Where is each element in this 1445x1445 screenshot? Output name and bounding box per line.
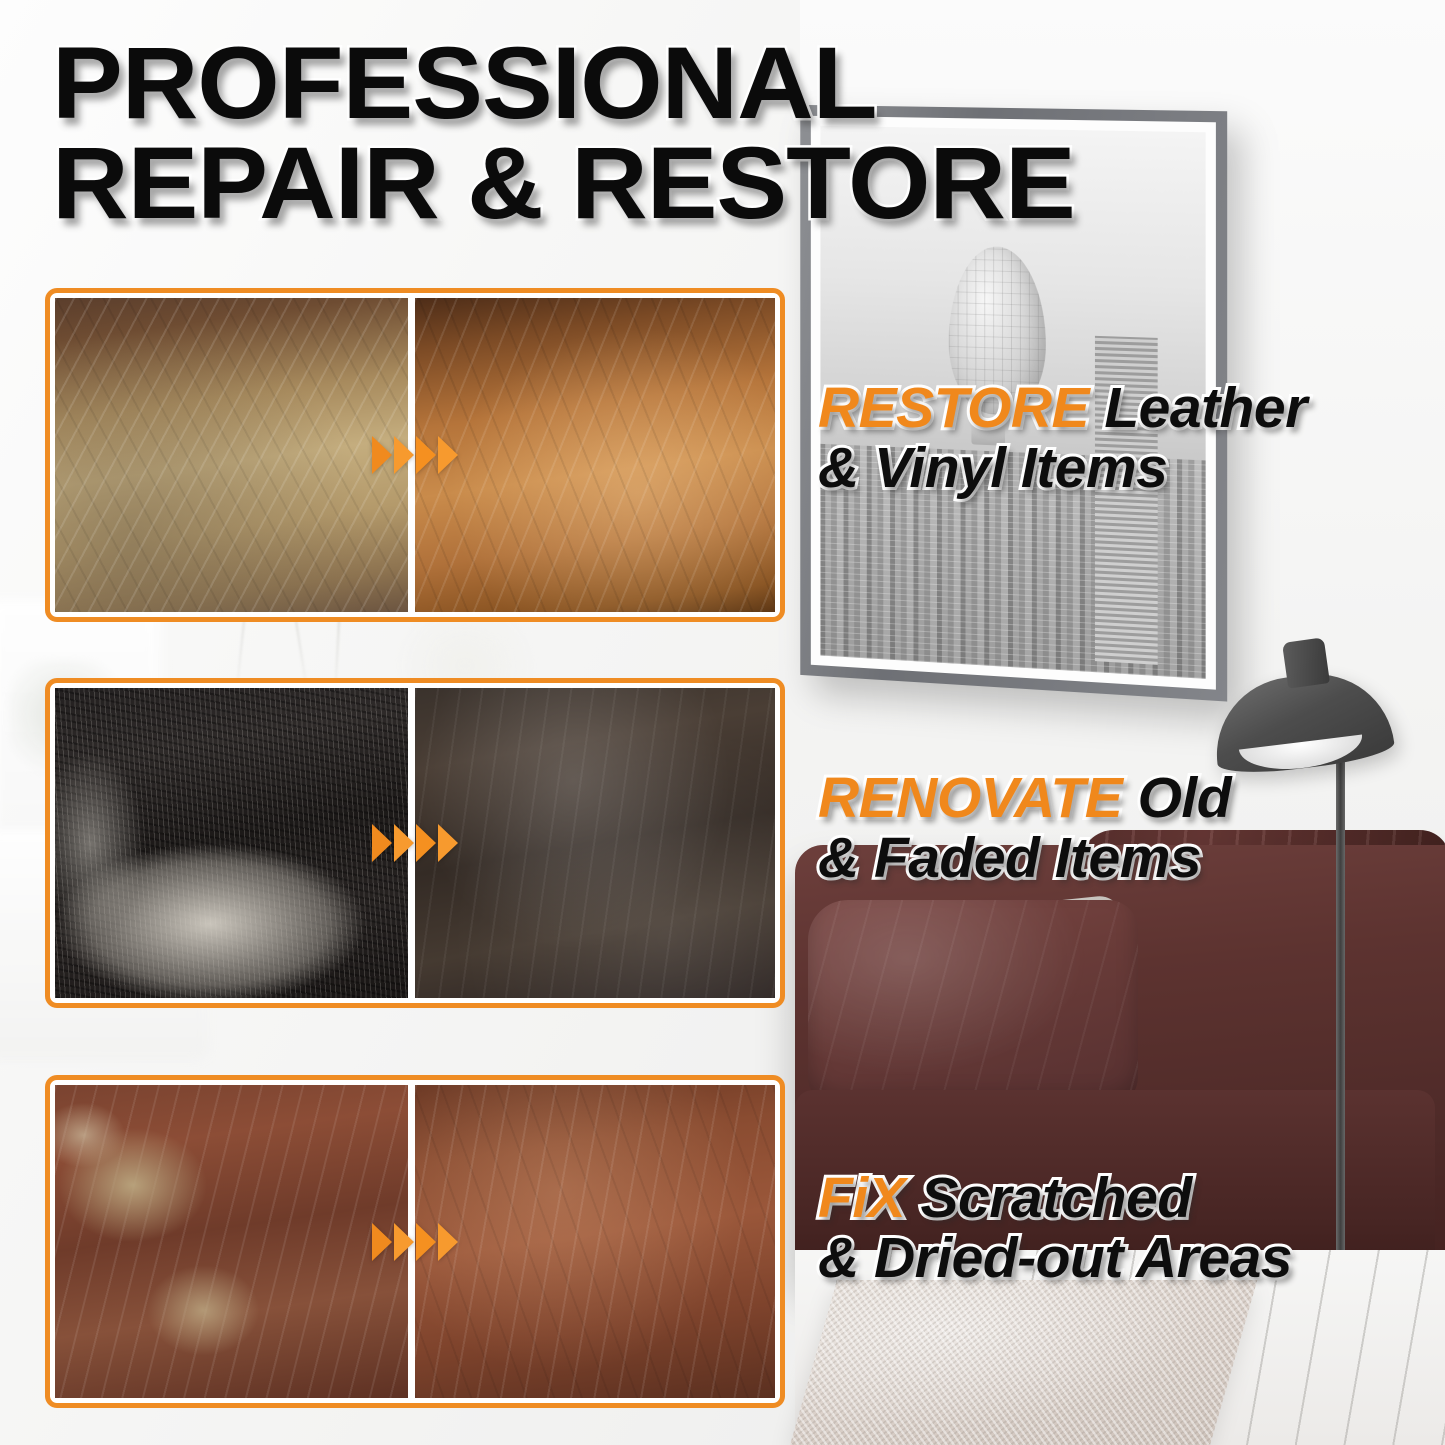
callout-rest: Old (1122, 766, 1231, 830)
before-after-panel-renovate (45, 678, 785, 1008)
before-photo-fix (55, 1085, 415, 1398)
callout-restore: RESTORE Leather & Vinyl Items (818, 378, 1438, 499)
before-after-panel-restore (45, 288, 785, 622)
before-photo-renovate (55, 688, 415, 998)
area-rug (790, 1280, 1257, 1445)
sofa-cushion (808, 900, 1138, 1110)
callout-rest: Scratched (905, 1166, 1191, 1230)
lamp-neck (1282, 637, 1330, 688)
callout-rest: Leather (1089, 376, 1307, 440)
photo-after-image (415, 688, 775, 998)
photo-after-image (415, 298, 775, 612)
advertisement-canvas: PROFESSIONAL REPAIR & RESTORE (0, 0, 1445, 1445)
callout-line-1: RESTORE Leather (818, 378, 1438, 438)
callout-renovate: RENOVATE Old & Faded Items (818, 768, 1438, 889)
after-photo-restore (415, 298, 775, 612)
after-photo-fix (415, 1085, 775, 1398)
before-photo-restore (55, 298, 415, 612)
headline-line-2: REPAIR & RESTORE (52, 134, 1217, 234)
callout-keyword: RENOVATE (818, 766, 1122, 830)
callout-line-2: & Faded Items (818, 828, 1438, 888)
page-title: PROFESSIONAL REPAIR & RESTORE (52, 34, 1217, 234)
callout-line-2: & Vinyl Items (818, 438, 1438, 498)
photo-after-image (415, 1085, 775, 1398)
before-after-panel-fix (45, 1075, 785, 1408)
photo-before-image (55, 688, 408, 998)
photo-before-image (55, 1085, 408, 1398)
headline-line-1: PROFESSIONAL (52, 26, 876, 140)
callout-line-1: FiX Scratched (818, 1168, 1438, 1228)
callout-line-1: RENOVATE Old (818, 768, 1438, 828)
callout-fix: FiX Scratched & Dried-out Areas (818, 1168, 1438, 1289)
photo-before-image (55, 298, 408, 612)
after-photo-renovate (415, 688, 775, 998)
callout-line-2: & Dried-out Areas (818, 1228, 1438, 1288)
callout-keyword: FiX (818, 1166, 905, 1230)
callout-keyword: RESTORE (818, 376, 1089, 440)
